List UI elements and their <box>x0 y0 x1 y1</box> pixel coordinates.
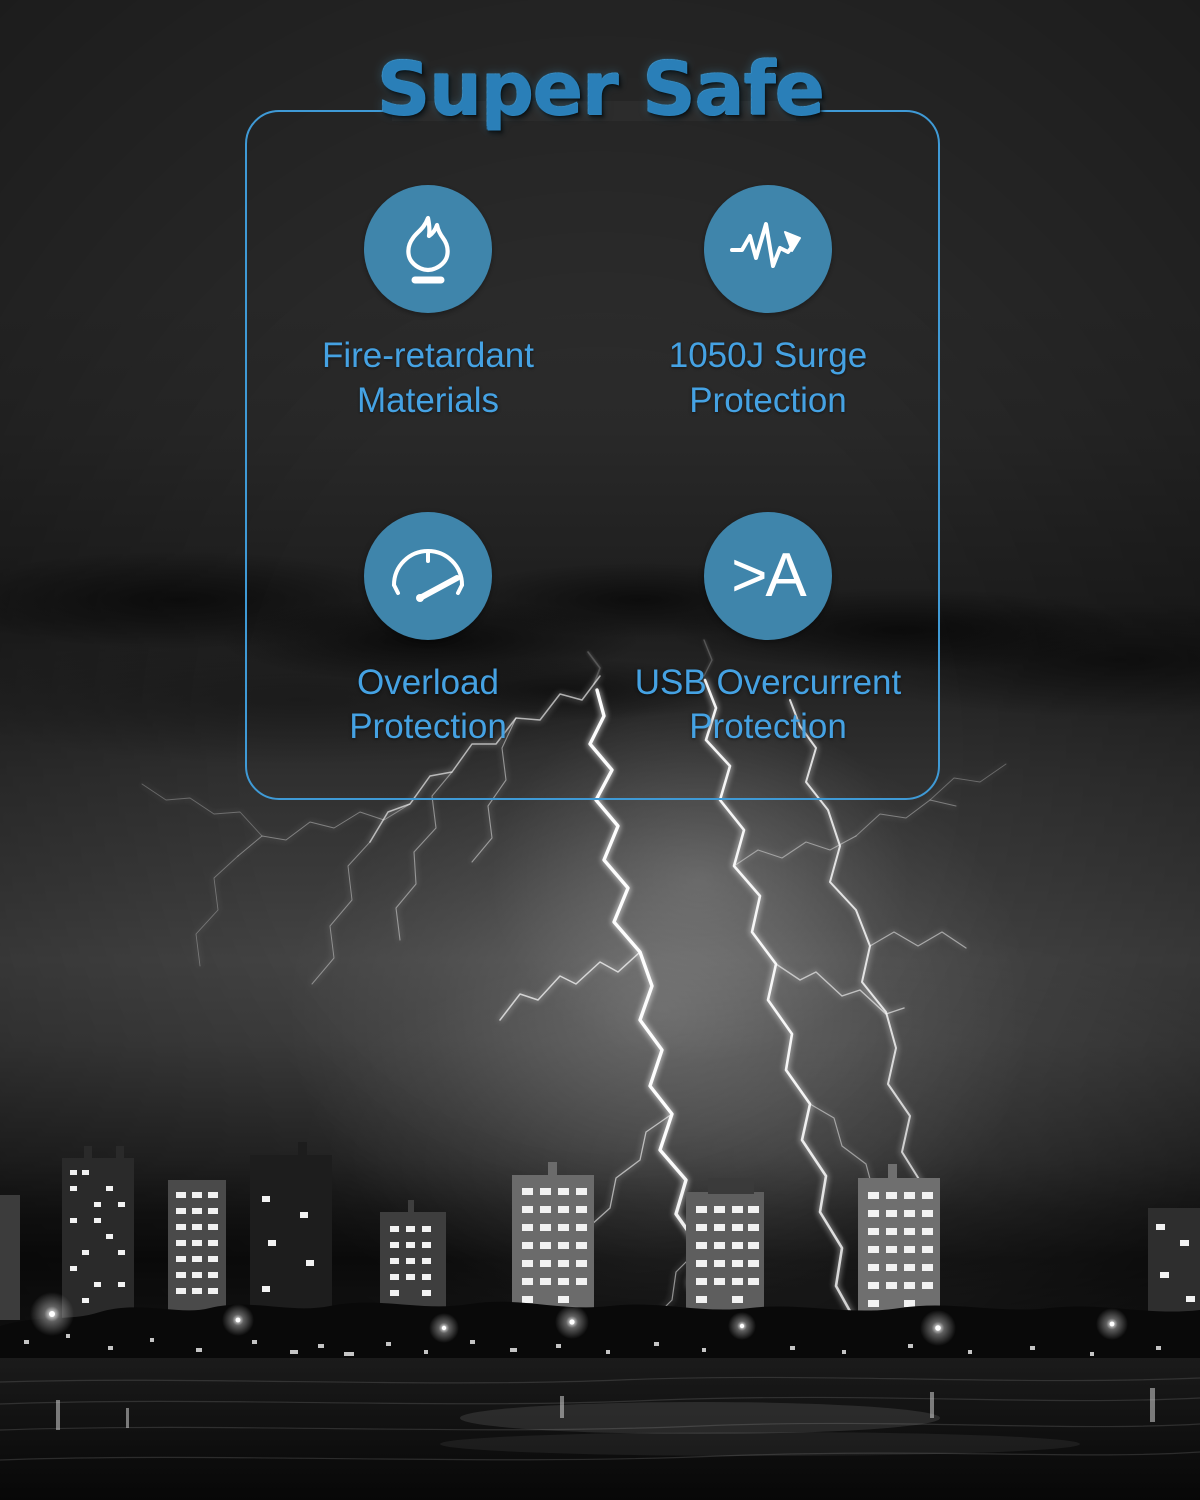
feature-fire-retardant[interactable]: Fire-retardant Materials <box>258 185 598 424</box>
feature-grid: Fire-retardant Materials 1050J Surge Pro… <box>258 185 938 750</box>
feature-usb-overcurrent[interactable]: >A USB Overcurrent Protection <box>598 512 938 751</box>
city-skyline <box>0 1100 1200 1500</box>
feature-label: 1050J Surge Protection <box>669 334 867 424</box>
feature-surge-protection[interactable]: 1050J Surge Protection <box>598 185 938 424</box>
page-title-text: Super Safe <box>376 52 823 126</box>
feature-overload-protection[interactable]: Overload Protection <box>258 512 598 751</box>
surge-waveform-arrow-icon <box>704 185 832 313</box>
feature-row-top: Fire-retardant Materials 1050J Surge Pro… <box>258 185 938 424</box>
feature-label: USB Overcurrent Protection <box>635 661 901 751</box>
feature-row-bottom: Overload Protection >A USB Overcurrent P… <box>258 512 938 751</box>
feature-label: Overload Protection <box>349 661 507 751</box>
feature-label: Fire-retardant Materials <box>322 334 534 424</box>
flame-icon <box>364 185 492 313</box>
page-title: Super Safe <box>0 52 1200 126</box>
gauge-icon <box>364 512 492 640</box>
super-safe-feature-graphic: Super Safe Fire-retardant Materials <box>0 0 1200 1500</box>
overcurrent-amp-icon: >A <box>704 512 832 640</box>
overcurrent-amp-glyph: >A <box>731 545 805 607</box>
